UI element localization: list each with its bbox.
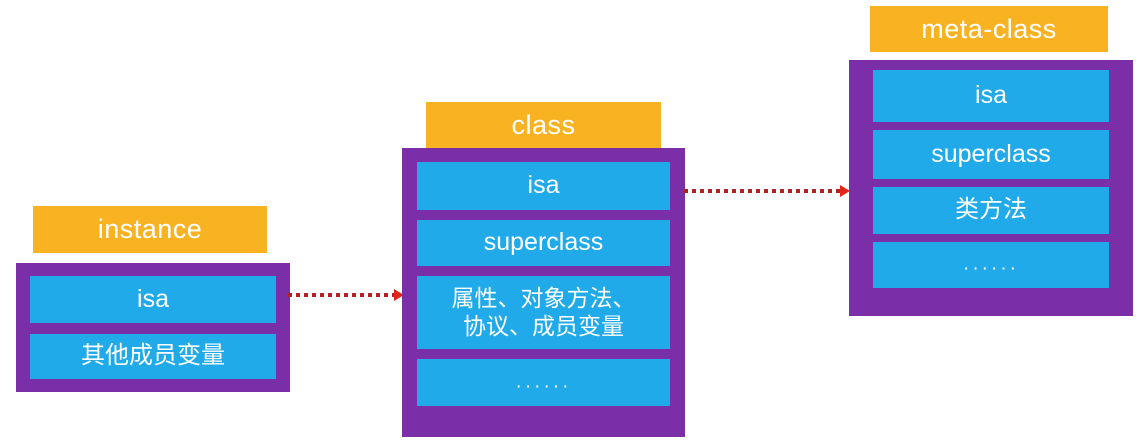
instance-row-isa: isa xyxy=(30,276,276,323)
class-row-superclass-label: superclass xyxy=(484,228,604,258)
meta-class-row-isa: isa xyxy=(873,70,1109,122)
meta-class-header-label: meta-class xyxy=(921,14,1057,45)
instance-row-other-ivars: 其他成员变量 xyxy=(30,334,276,379)
meta-class-row-superclass-label: superclass xyxy=(931,140,1051,170)
arrow-line xyxy=(684,189,841,193)
class-row-ellipsis-label: ······ xyxy=(516,376,572,398)
meta-class-row-isa-label: isa xyxy=(975,81,1007,111)
class-row-properties-methods: 属性、对象方法、 协议、成员变量 xyxy=(417,276,670,349)
class-header-label: class xyxy=(511,110,575,141)
class-row-superclass: superclass xyxy=(417,220,670,266)
meta-class-box: isa superclass 类方法 ······ xyxy=(849,60,1133,316)
class-row-ellipsis: ······ xyxy=(417,359,670,406)
meta-class-row-class-methods: 类方法 xyxy=(873,187,1109,234)
class-row-isa-label: isa xyxy=(528,171,560,201)
meta-class-row-ellipsis-label: ······ xyxy=(963,258,1019,280)
instance-box: isa 其他成员变量 xyxy=(16,263,290,392)
diagram-canvas: instance isa 其他成员变量 class isa superclass… xyxy=(0,0,1145,446)
arrow-instance-isa-to-class xyxy=(288,290,404,300)
arrow-class-isa-to-meta-class xyxy=(684,186,850,196)
instance-row-isa-label: isa xyxy=(137,285,169,315)
meta-class-row-superclass: superclass xyxy=(873,130,1109,179)
class-box: isa superclass 属性、对象方法、 协议、成员变量 ······ xyxy=(402,148,685,437)
instance-header-label: instance xyxy=(98,214,203,245)
meta-class-header-chip: meta-class xyxy=(870,6,1108,52)
class-row-isa: isa xyxy=(417,162,670,210)
instance-row-other-ivars-label: 其他成员变量 xyxy=(81,342,225,370)
class-row-properties-methods-label: 属性、对象方法、 协议、成员变量 xyxy=(452,285,636,339)
instance-header-chip: instance xyxy=(33,206,267,253)
meta-class-row-ellipsis: ······ xyxy=(873,242,1109,288)
meta-class-row-class-methods-label: 类方法 xyxy=(955,196,1027,224)
arrow-line xyxy=(288,293,395,297)
class-header-chip: class xyxy=(426,102,661,148)
